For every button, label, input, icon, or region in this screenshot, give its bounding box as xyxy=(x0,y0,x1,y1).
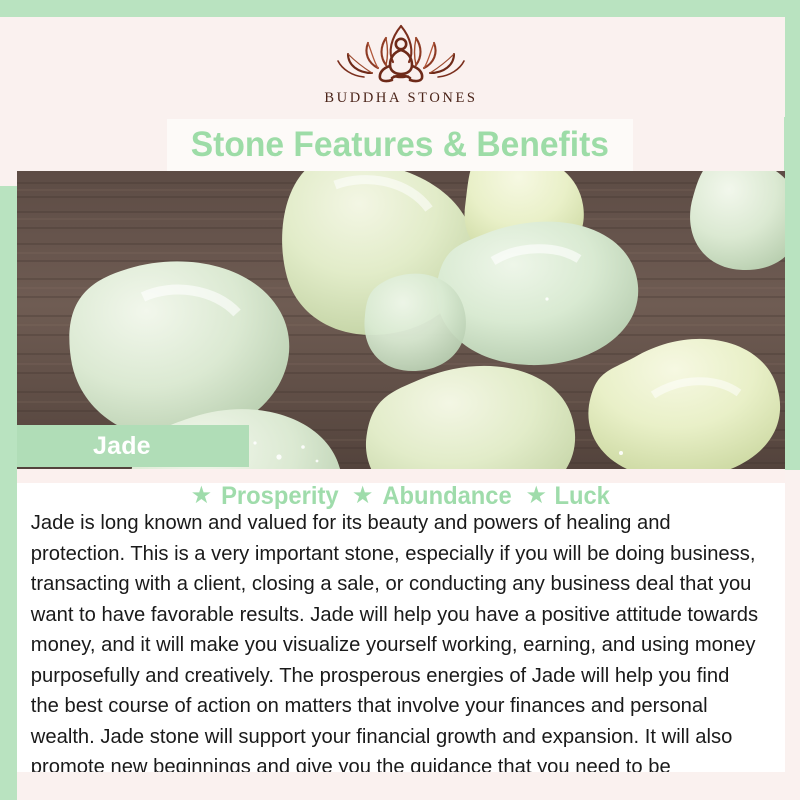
keyword-label: Luck xyxy=(554,482,609,511)
keyword-label: Abundance xyxy=(383,482,512,511)
star-icon: ★ xyxy=(191,484,213,508)
keyword-row: ★ Prosperity ★ Abundance ★ Luck xyxy=(17,481,785,511)
stone-description: Jade is long known and valued for its be… xyxy=(17,508,773,800)
frame-right-accent xyxy=(784,0,800,180)
keyword-item-luck: ★ Luck xyxy=(525,482,611,511)
lotus-meditation-icon xyxy=(328,21,474,87)
frame-top-accent xyxy=(0,0,800,17)
stone-name-label: Jade xyxy=(17,432,151,461)
page-title: Stone Features & Benefits xyxy=(191,125,609,165)
stone-name-banner: Jade xyxy=(17,425,249,467)
bottom-cream-band xyxy=(0,772,800,800)
title-banner: Stone Features & Benefits xyxy=(167,119,633,171)
star-icon: ★ xyxy=(525,484,547,508)
brand-header: BUDDHA STONES xyxy=(17,17,785,117)
star-icon: ★ xyxy=(352,484,374,508)
frame-left-accent xyxy=(0,428,17,800)
bottom-left-green-accent xyxy=(0,772,17,800)
keyword-item-prosperity: ★ Prosperity xyxy=(191,482,342,511)
keyword-item-abundance: ★ Abundance xyxy=(352,482,516,511)
infographic-card: BUDDHA STONES Stone Features & Benefits xyxy=(0,0,800,800)
brand-logo: BUDDHA STONES xyxy=(17,21,785,107)
frame-right-mid-accent xyxy=(785,170,800,470)
brand-name: BUDDHA STONES xyxy=(324,90,477,107)
frame-left-upper-accent xyxy=(0,186,17,436)
keyword-label: Prosperity xyxy=(221,482,338,511)
